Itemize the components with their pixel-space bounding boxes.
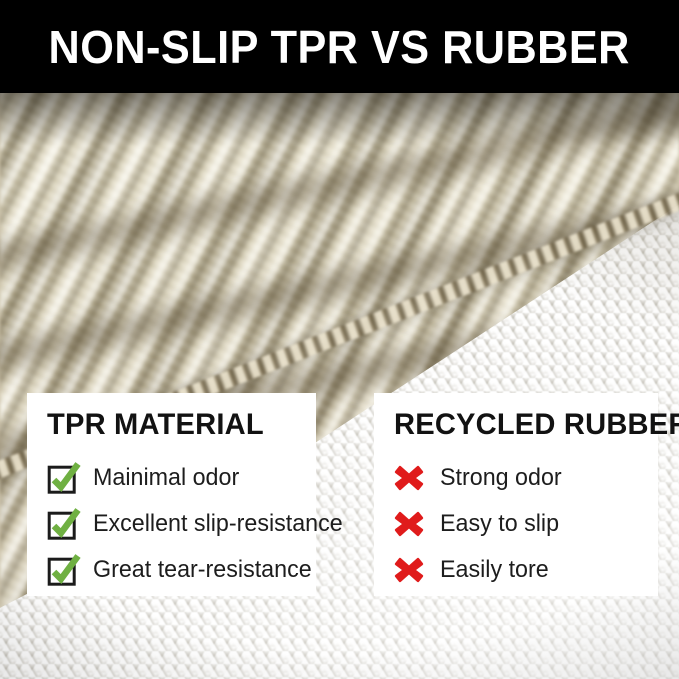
feature-list-tpr: Mainimal odor Excellent slip-resistance [47,455,302,593]
header-banner: NON-SLIP TPR VS RUBBER [0,0,679,93]
list-item: Easily tore [394,547,644,593]
list-item: Great tear-resistance [47,547,302,593]
cross-mark-icon [394,552,440,588]
checkbox-check-icon [47,506,93,542]
card-title-rubber: RECYCLED RUBBER [394,409,637,441]
feature-list-rubber: Strong odor Easy to slip Easily tore [394,455,644,593]
feature-label: Mainimal odor [93,465,239,491]
card-title-tpr: TPR MATERIAL [47,409,294,441]
list-item: Mainimal odor [47,455,302,501]
feature-label: Easy to slip [440,511,559,537]
cross-mark-icon [394,506,440,542]
list-item: Strong odor [394,455,644,501]
cross-mark-icon [394,460,440,496]
feature-label: Strong odor [440,465,562,491]
comparison-card-rubber: RECYCLED RUBBER Strong odor Easy to slip [374,393,658,596]
feature-label: Easily tore [440,557,549,583]
product-comparison-infographic: NON-SLIP TPR VS RUBBER TPR MATERIAL Main… [0,0,679,679]
photo-top-shadow [0,86,679,146]
comparison-card-tpr: TPR MATERIAL Mainimal odor [27,393,316,596]
checkbox-check-icon [47,460,93,496]
list-item: Excellent slip-resistance [47,501,302,547]
list-item: Easy to slip [394,501,644,547]
page-title: NON-SLIP TPR VS RUBBER [49,24,630,70]
feature-label: Great tear-resistance [93,557,312,583]
checkbox-check-icon [47,552,93,588]
feature-label: Excellent slip-resistance [93,511,343,537]
